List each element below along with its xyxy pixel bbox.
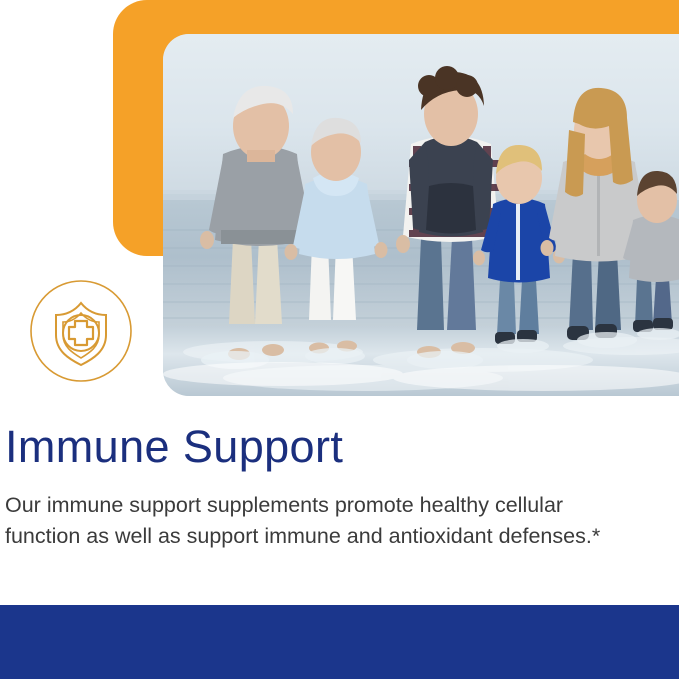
beach-family-illustration bbox=[163, 34, 679, 396]
shield-health-icon bbox=[29, 279, 133, 383]
hero-photo bbox=[163, 34, 679, 396]
footer-bar: *These statements have not been evaluate… bbox=[0, 605, 679, 679]
page-title: Immune Support bbox=[5, 418, 343, 476]
product-category-banner: Immune Support Our immune support supple… bbox=[0, 0, 679, 679]
page-description: Our immune support supplements promote h… bbox=[5, 490, 635, 552]
